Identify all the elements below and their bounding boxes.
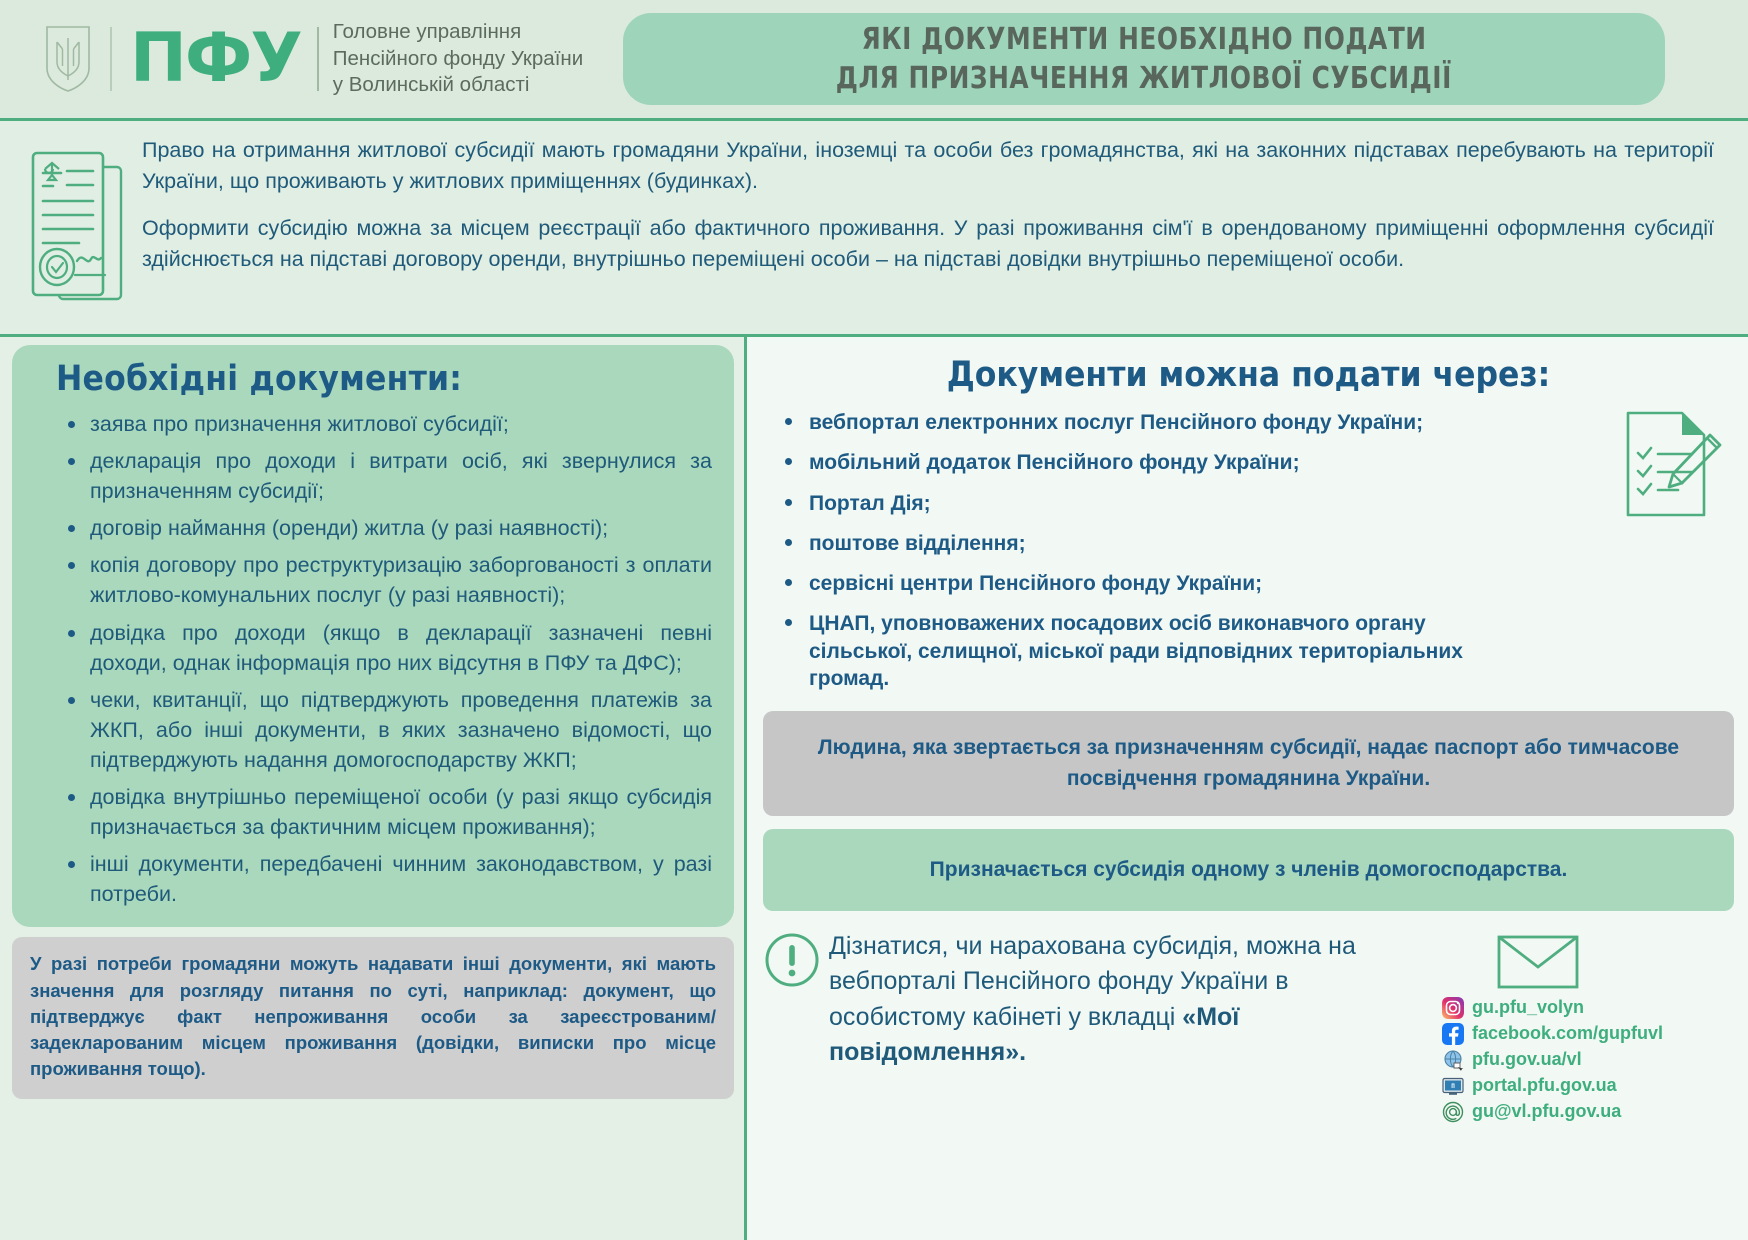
list-item: копія договору про реструктуризацію забо… — [68, 550, 712, 610]
list-item: інші документи, передбачені чинним закон… — [68, 849, 712, 909]
ukraine-trident-coat-of-arms-icon — [44, 24, 92, 94]
list-item: вебпортал електронних послуг Пенсійного … — [785, 409, 1525, 436]
list-item: мобільний додаток Пенсійного фонду Украї… — [785, 449, 1525, 476]
contact-website[interactable]: pfu.gov.ua/vl — [1442, 1049, 1663, 1071]
list-item: ЦНАП, уповноважених посадових осіб викон… — [785, 610, 1525, 692]
contact-portal[interactable]: П portal.pfu.gov.ua — [1442, 1075, 1663, 1097]
contact-label: gu.pfu_volyn — [1472, 997, 1584, 1018]
infographic-page: ПФУ Головне управління Пенсійного фонду … — [0, 0, 1748, 1240]
envelope-icon — [1496, 931, 1580, 991]
contacts-block: gu.pfu_volyn facebook.com/gupfuvl — [1442, 925, 1734, 1236]
intro-paragraph-1: Право на отримання житлової субсидії маю… — [142, 135, 1714, 196]
pfu-wordmark: ПФУ — [130, 27, 301, 92]
contacts-list: gu.pfu_volyn facebook.com/gupfuvl — [1442, 997, 1663, 1127]
instagram-icon — [1442, 997, 1464, 1019]
required-documents-card: Необхідні документи: заява про призначен… — [12, 345, 734, 927]
exclamation-icon-wrap — [763, 925, 829, 1236]
list-item: Портал Дія; — [785, 490, 1525, 517]
list-item: декларація про доходи і витрати осіб, як… — [68, 446, 712, 506]
single-member-box: Призначається субсидія одному з членів д… — [763, 829, 1734, 910]
portal-icon: П — [1442, 1075, 1464, 1097]
contact-label: facebook.com/gupfuvl — [1472, 1023, 1663, 1044]
list-item: договір наймання (оренди) житла (у разі … — [68, 513, 712, 543]
required-documents-heading: Необхідні документи: — [56, 359, 712, 399]
facebook-icon — [1442, 1023, 1464, 1045]
right-footer: Дізнатися, чи нарахована субсидія, можна… — [763, 925, 1734, 1236]
left-note-box: У разі потреби громадяни можуть надавати… — [12, 937, 734, 1098]
required-documents-list: заява про призначення житлової субсидії;… — [34, 409, 712, 909]
organization-name: Головне управління Пенсійного фонду Укра… — [333, 19, 583, 99]
footer-text: Дізнатися, чи нарахована субсидія, можна… — [829, 925, 1442, 1236]
title-banner: ЯКІ ДОКУМЕНТИ НЕОБХІДНО ПОДАТИ ДЛЯ ПРИЗН… — [623, 13, 1665, 105]
passport-requirement-box: Людина, яка звертається за призначенням … — [763, 711, 1734, 816]
intro-section: Право на отримання житлової субсидії маю… — [0, 118, 1748, 334]
list-item: чеки, квитанції, що підтверджують провед… — [68, 685, 712, 775]
list-item: сервісні центри Пенсійного фонду України… — [785, 570, 1525, 597]
content-columns: Необхідні документи: заява про призначен… — [0, 334, 1748, 1240]
contact-label: portal.pfu.gov.ua — [1472, 1075, 1617, 1096]
contact-facebook[interactable]: facebook.com/gupfuvl — [1442, 1023, 1663, 1045]
submission-channels-body: вебпортал електронних послуг Пенсійного … — [763, 409, 1734, 705]
contact-instagram[interactable]: gu.pfu_volyn — [1442, 997, 1663, 1019]
globe-icon — [1442, 1049, 1464, 1071]
document-icon-wrap — [12, 135, 142, 324]
checklist-pen-icon — [1614, 405, 1726, 523]
submission-channels-heading: Документи можна подати через: — [763, 355, 1734, 395]
intro-text: Право на отримання житлової субсидії маю… — [142, 135, 1724, 324]
logo-divider — [110, 27, 112, 91]
logo-divider-2 — [317, 27, 319, 91]
list-item: заява про призначення житлової субсидії; — [68, 409, 712, 439]
page-title-line-1: ЯКІ ДОКУМЕНТИ НЕОБХІДНО ПОДАТИ — [862, 20, 1427, 59]
list-item: довідка про доходи (якщо в декларації за… — [68, 618, 712, 678]
left-column: Необхідні документи: заява про призначен… — [0, 334, 744, 1240]
contact-label: pfu.gov.ua/vl — [1472, 1049, 1582, 1070]
list-item: довідка внутрішньо переміщеної особи (у … — [68, 782, 712, 842]
right-column: Документи можна подати через: — [747, 334, 1748, 1240]
list-item: поштове відділення; — [785, 530, 1525, 557]
logo-block: ПФУ Головне управління Пенсійного фонду … — [44, 19, 583, 99]
at-email-icon — [1442, 1101, 1464, 1123]
legal-document-icon — [21, 141, 133, 309]
page-title-line-2: ДЛЯ ПРИЗНАЧЕННЯ ЖИТЛОВОЇ СУБСИДІЇ — [836, 59, 1452, 98]
footer-text-regular: Дізнатися, чи нарахована субсидія, можна… — [829, 932, 1356, 1031]
contact-email[interactable]: gu@vl.pfu.gov.ua — [1442, 1101, 1663, 1123]
svg-text:П: П — [1451, 1083, 1455, 1090]
contact-label: gu@vl.pfu.gov.ua — [1472, 1101, 1621, 1122]
page-header: ПФУ Головне управління Пенсійного фонду … — [0, 0, 1748, 118]
exclamation-circle-icon — [763, 931, 821, 989]
intro-paragraph-2: Оформити субсидію можна за місцем реєстр… — [142, 213, 1714, 274]
submission-channels-list: вебпортал електронних послуг Пенсійного … — [763, 409, 1525, 692]
